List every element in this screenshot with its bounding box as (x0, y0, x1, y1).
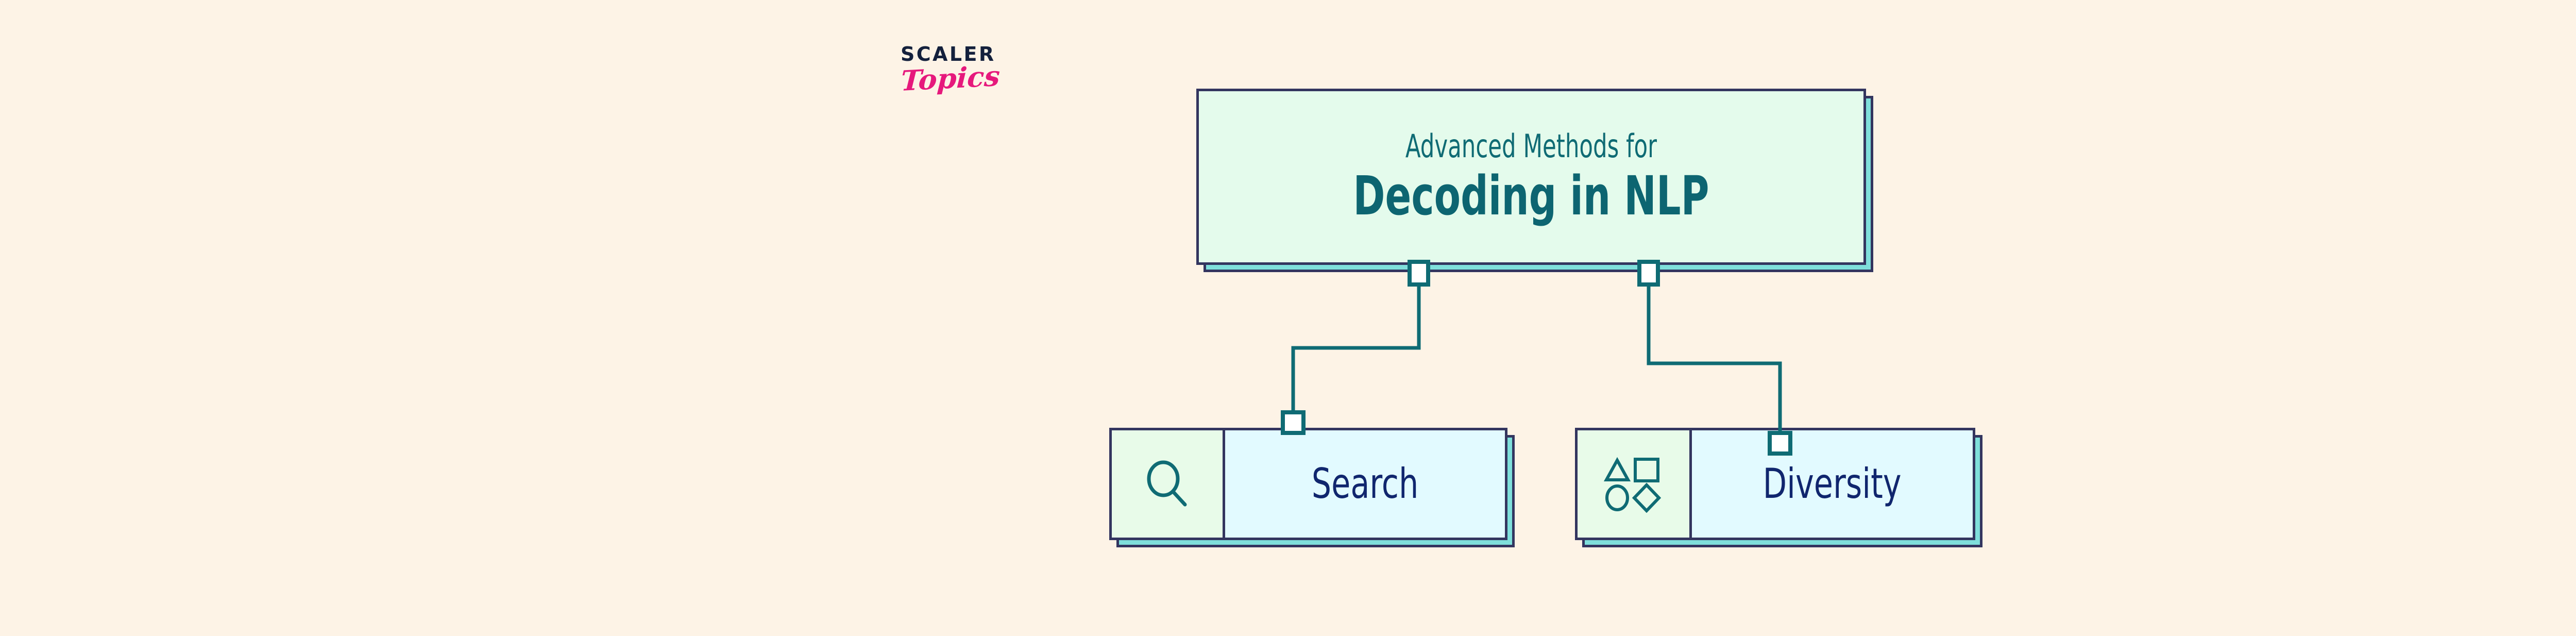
title-eyebrow: Advanced Methods for (1405, 129, 1657, 163)
diversity-icon-cell (1578, 430, 1692, 538)
title-headline: Decoding in NLP (1353, 168, 1709, 224)
title-card[interactable]: Advanced Methods for Decoding in NLP (1196, 89, 1866, 265)
diversity-label-cell: Diversity (1692, 430, 1973, 538)
logo-wordmark-topics: Topics (900, 60, 1035, 94)
search-label-cell: Search (1225, 430, 1505, 538)
scaler-topics-logo: SCALER Topics (901, 44, 1035, 116)
diversity-label: Diversity (1763, 463, 1902, 505)
diagram-canvas: SCALER Topics Advanced Methods for Decod… (0, 0, 2576, 636)
search-label: Search (1312, 463, 1419, 505)
search-card[interactable]: Search (1109, 428, 1507, 540)
diversity-card[interactable]: Diversity (1575, 428, 1975, 540)
magnifier-icon (1141, 457, 1194, 511)
shapes-grid-icon (1603, 455, 1665, 513)
search-icon-cell (1112, 430, 1225, 538)
